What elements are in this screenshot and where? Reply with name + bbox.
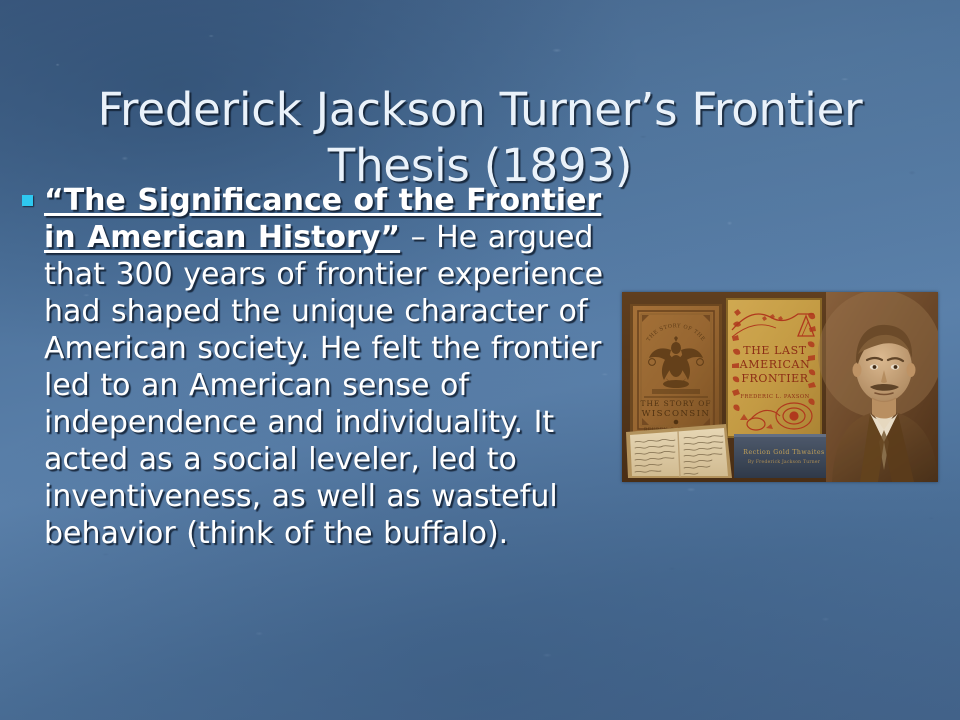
turner-books-and-portrait-photo: THE STORY OF THE STATES bbox=[622, 292, 938, 482]
square-bullet-icon bbox=[22, 195, 33, 206]
page-title: Frederick Jackson Turner’s Frontier Thes… bbox=[42, 82, 918, 194]
list-item: “The Significance of the Frontier in Ame… bbox=[14, 182, 614, 552]
bullet-item-body: – He argued that 300 years of frontier e… bbox=[44, 220, 603, 551]
slide: Frederick Jackson Turner’s Frontier Thes… bbox=[0, 0, 960, 720]
photo-illustration: THE STORY OF THE STATES bbox=[622, 292, 938, 482]
bullet-list: “The Significance of the Frontier in Ame… bbox=[14, 182, 614, 552]
bullet-item-label: “The Significance of the Frontier in Ame… bbox=[44, 182, 614, 552]
